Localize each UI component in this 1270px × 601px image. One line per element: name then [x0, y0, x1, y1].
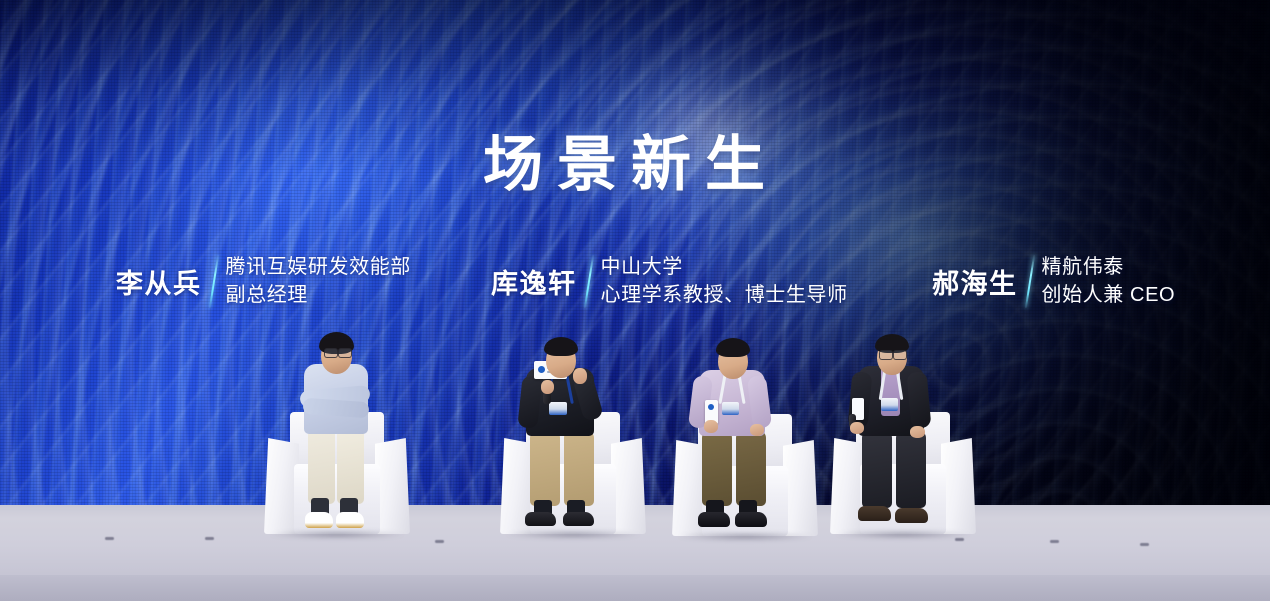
speaker-credit-3: 郝海生 精航伟泰 创始人兼 CEO	[932, 254, 1175, 309]
speaker-affiliation-1: 腾讯互娱研发效能部 副总经理	[226, 254, 411, 309]
conference-stage-scene: 场景新生 李从兵 腾讯互娱研发效能部 副总经理 库逸轩 中山大学 心理学系教授、…	[0, 0, 1270, 601]
panel-session-title: 场景新生	[483, 133, 779, 198]
floor-tape-mark	[1050, 540, 1059, 543]
speaker-affiliation-3-line1: 精航伟泰	[1042, 254, 1176, 282]
speaker-name-3: 郝海生	[932, 262, 1029, 301]
panelist-2-leg-left	[530, 430, 560, 506]
panelist-3-hair	[716, 338, 750, 357]
speaker-affiliation-2-line2: 心理学系教授、博士生导师	[601, 282, 848, 310]
panelist-1-leg-left	[308, 426, 335, 504]
speaker-name-2: 库逸轩	[491, 262, 588, 301]
panelist-3	[688, 346, 803, 541]
panelist-2-hand-gesture	[573, 368, 587, 384]
panelist-4-glasses-right-lens	[893, 350, 907, 360]
panelist-4-leg-right	[896, 430, 926, 508]
panelist-3-hand-right	[750, 424, 764, 436]
panelist-2-leg-right	[564, 430, 594, 506]
speaker-affiliation-3: 精航伟泰 创始人兼 CEO	[1042, 254, 1176, 309]
speaker-affiliation-1-line1: 腾讯互娱研发效能部	[226, 254, 411, 282]
panelist-3-hand-left	[704, 420, 718, 433]
panelist-4-glasses-left-lens	[879, 350, 893, 360]
speaker-credit-2: 库逸轩 中山大学 心理学系教授、博士生导师	[491, 254, 848, 309]
panelist-1	[288, 338, 398, 538]
panelist-2-hair	[544, 337, 578, 356]
floor-tape-mark	[435, 540, 444, 543]
panelist-3-shoe-right	[735, 512, 767, 527]
microphone-flag-logo	[708, 404, 714, 410]
floor-tape-mark	[105, 537, 114, 540]
panelist-2-hand-holding-mic	[541, 380, 554, 394]
panelist-3-shoe-left	[698, 512, 730, 527]
panelist-2-shoe-right	[563, 512, 594, 526]
speaker-name-1: 李从兵	[116, 262, 213, 301]
microphone-flag-logo	[538, 366, 545, 373]
panelist-3-leg-right	[736, 430, 766, 506]
panelist-4-shoe-left	[858, 506, 891, 521]
panelist-4	[846, 342, 961, 537]
panelist-2-badge	[549, 402, 567, 415]
speaker-affiliation-1-line2: 副总经理	[226, 282, 411, 310]
panelist-1-glasses-left-lens	[324, 348, 338, 358]
panelist-3-badge	[722, 402, 739, 415]
speaker-affiliation-2-line1: 中山大学	[601, 254, 848, 282]
panelist-2	[516, 344, 631, 539]
panelist-4-hand-left	[850, 422, 864, 434]
panelist-1-glasses-right-lens	[338, 348, 352, 358]
floor-tape-mark	[1140, 543, 1149, 546]
panelist-4-leg-left	[862, 430, 892, 508]
panelist-1-leg-right	[337, 426, 364, 504]
panelist-4-hand-right	[910, 426, 925, 438]
panelist-4-badge	[881, 398, 898, 411]
panelist-1-shoe-right	[336, 512, 364, 528]
panelist-2-shoe-left	[525, 512, 556, 526]
panelist-4-arm-right	[907, 371, 932, 429]
speaker-affiliation-3-line2: 创始人兼 CEO	[1042, 282, 1176, 310]
panelist-1-shoe-left	[305, 512, 333, 528]
panelist-3-leg-left	[702, 430, 732, 506]
panelist-4-shoe-right	[895, 508, 928, 523]
stage-front-edge	[0, 575, 1270, 601]
speaker-affiliation-2: 中山大学 心理学系教授、博士生导师	[601, 254, 848, 309]
floor-tape-mark	[205, 537, 214, 540]
speaker-credit-1: 李从兵 腾讯互娱研发效能部 副总经理	[116, 254, 411, 309]
